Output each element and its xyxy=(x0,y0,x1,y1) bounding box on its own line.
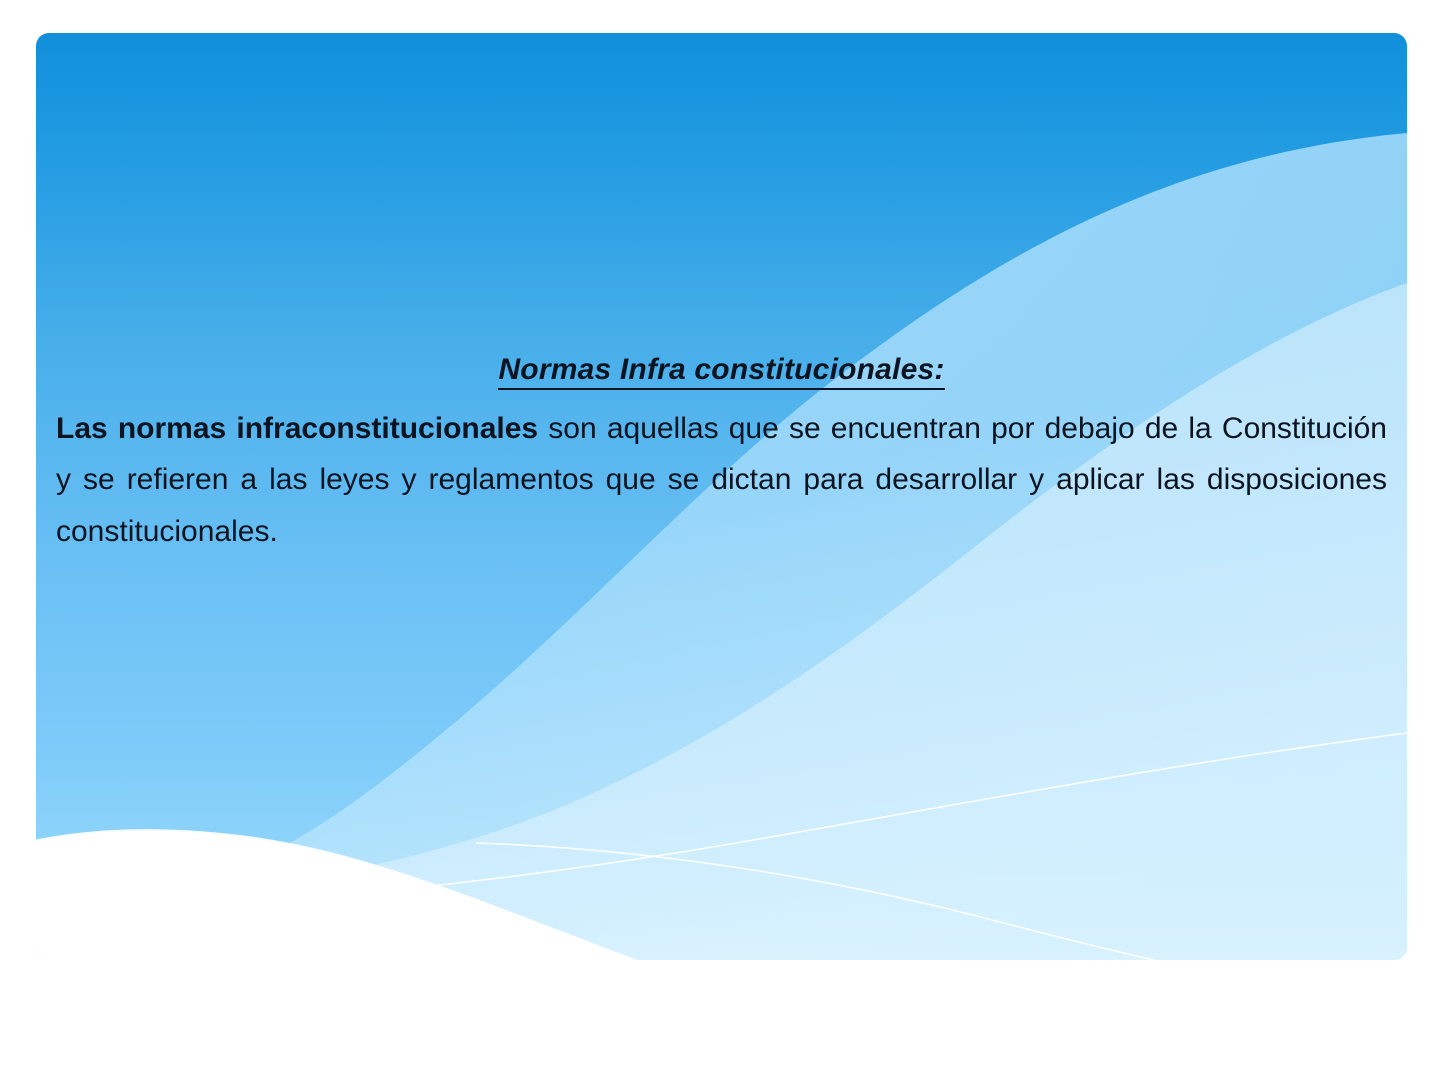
slide-canvas: Normas Infra constitucionales: Las norma… xyxy=(0,0,1440,1080)
slide-text-block: Normas Infra constitucionales: Las norma… xyxy=(56,351,1387,609)
slide-title-text: Normas Infra constitucionales: xyxy=(498,353,944,390)
slide-body-paragraph: Las normas infraconstitucionales son aqu… xyxy=(56,403,1387,609)
slide-body-lead: Las normas infraconstitucionales xyxy=(56,412,538,445)
slide-panel: Normas Infra constitucionales: Las norma… xyxy=(36,33,1407,960)
wave-white-foreground xyxy=(36,831,1407,960)
thin-white-curve-falling xyxy=(476,843,1407,960)
thin-white-curve-rising xyxy=(66,733,1407,913)
wave-white-edge xyxy=(36,831,1407,960)
slide-title: Normas Infra constitucionales: xyxy=(56,351,1387,389)
